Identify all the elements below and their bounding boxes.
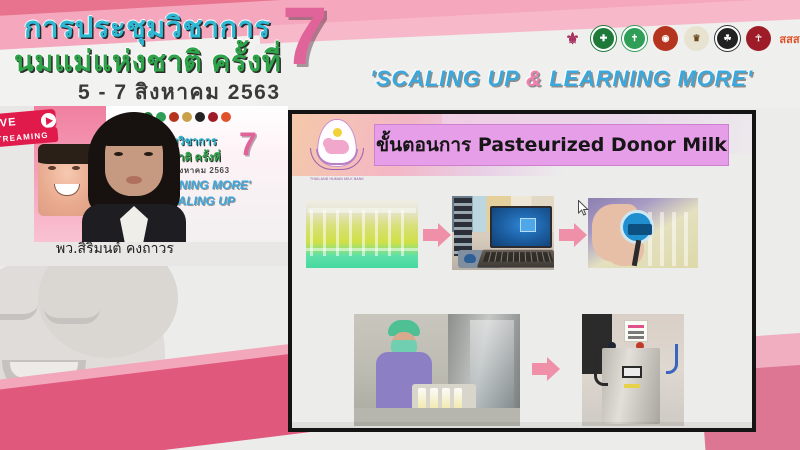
health-dept-logo: ✝ [622,26,647,51]
thaihealth-sss-logo: สสส [777,26,800,51]
royal-emblem-logo: ⚜ [560,26,585,51]
thai-pediatric-logo: ◉ [653,26,678,51]
photo-hand-digital-thermometer [588,198,698,268]
speaker-portrait [86,108,182,242]
conference-header-banner: การประชุมวิชาการ นมแม่แห่งชาติ ครั้งที่ … [0,0,800,108]
speaker-name-label: พว.สิริมนต์ คงถาวร [56,238,174,260]
poster-edition-number: 7 [239,128,257,160]
video-poster-backdrop: การประชุมวิชาการ นมแม่แห่งชาติ ครั้งที่ … [34,106,288,242]
red-seal-logo: ☥ [746,26,771,51]
photo-milk-bottle-rack [306,200,418,268]
ministry-public-health-logo: ✚ [591,26,616,51]
photo-laptop-data-recording [452,196,554,270]
sponsor-logos-row: ⚜ ✚ ✝ ◉ ♛ ☘ ☥ สสส [560,26,800,51]
photo-nurse-loading-bottles [354,314,520,426]
streaming-badge-label: STREAMING [0,127,59,148]
slide-bottom-edge [292,422,752,428]
conference-date: 5 - 7 สิงหาคม 2563 [78,76,281,108]
photo-pasteurizer-machine [582,314,684,426]
slide-title-text: ขั้นตอนการ Pasteurized Donor Milk [376,130,727,160]
tagline-part-1: 'SCALING UP [370,66,526,91]
conference-edition-number: 7 [282,0,328,78]
screenshot-stage: การประชุมวิชาการ นมแม่แห่งชาติ ครั้งที่ … [0,0,800,450]
presentation-slide-panel[interactable]: THAILAND HUMAN MILK BANK ขั้นตอนการ Past… [288,110,756,432]
tagline-part-2: LEARNING MORE' [543,66,753,91]
milk-bank-logo-caption: THAILAND HUMAN MILK BANK [308,177,366,181]
tagline-ampersand: & [526,66,543,91]
mouse-pointer-icon [578,200,590,217]
university-seal-logo: ☘ [715,26,740,51]
conference-tagline: 'SCALING UP & LEARNING MORE' [370,66,753,92]
live-streaming-badge: LIVE STREAMING [0,112,58,152]
slide-title-banner: ขั้นตอนการ Pasteurized Donor Milk [374,124,729,166]
thailand-human-milk-bank-logo: THAILAND HUMAN MILK BANK [306,118,368,180]
royal-pavilion-logo: ♛ [684,26,709,51]
